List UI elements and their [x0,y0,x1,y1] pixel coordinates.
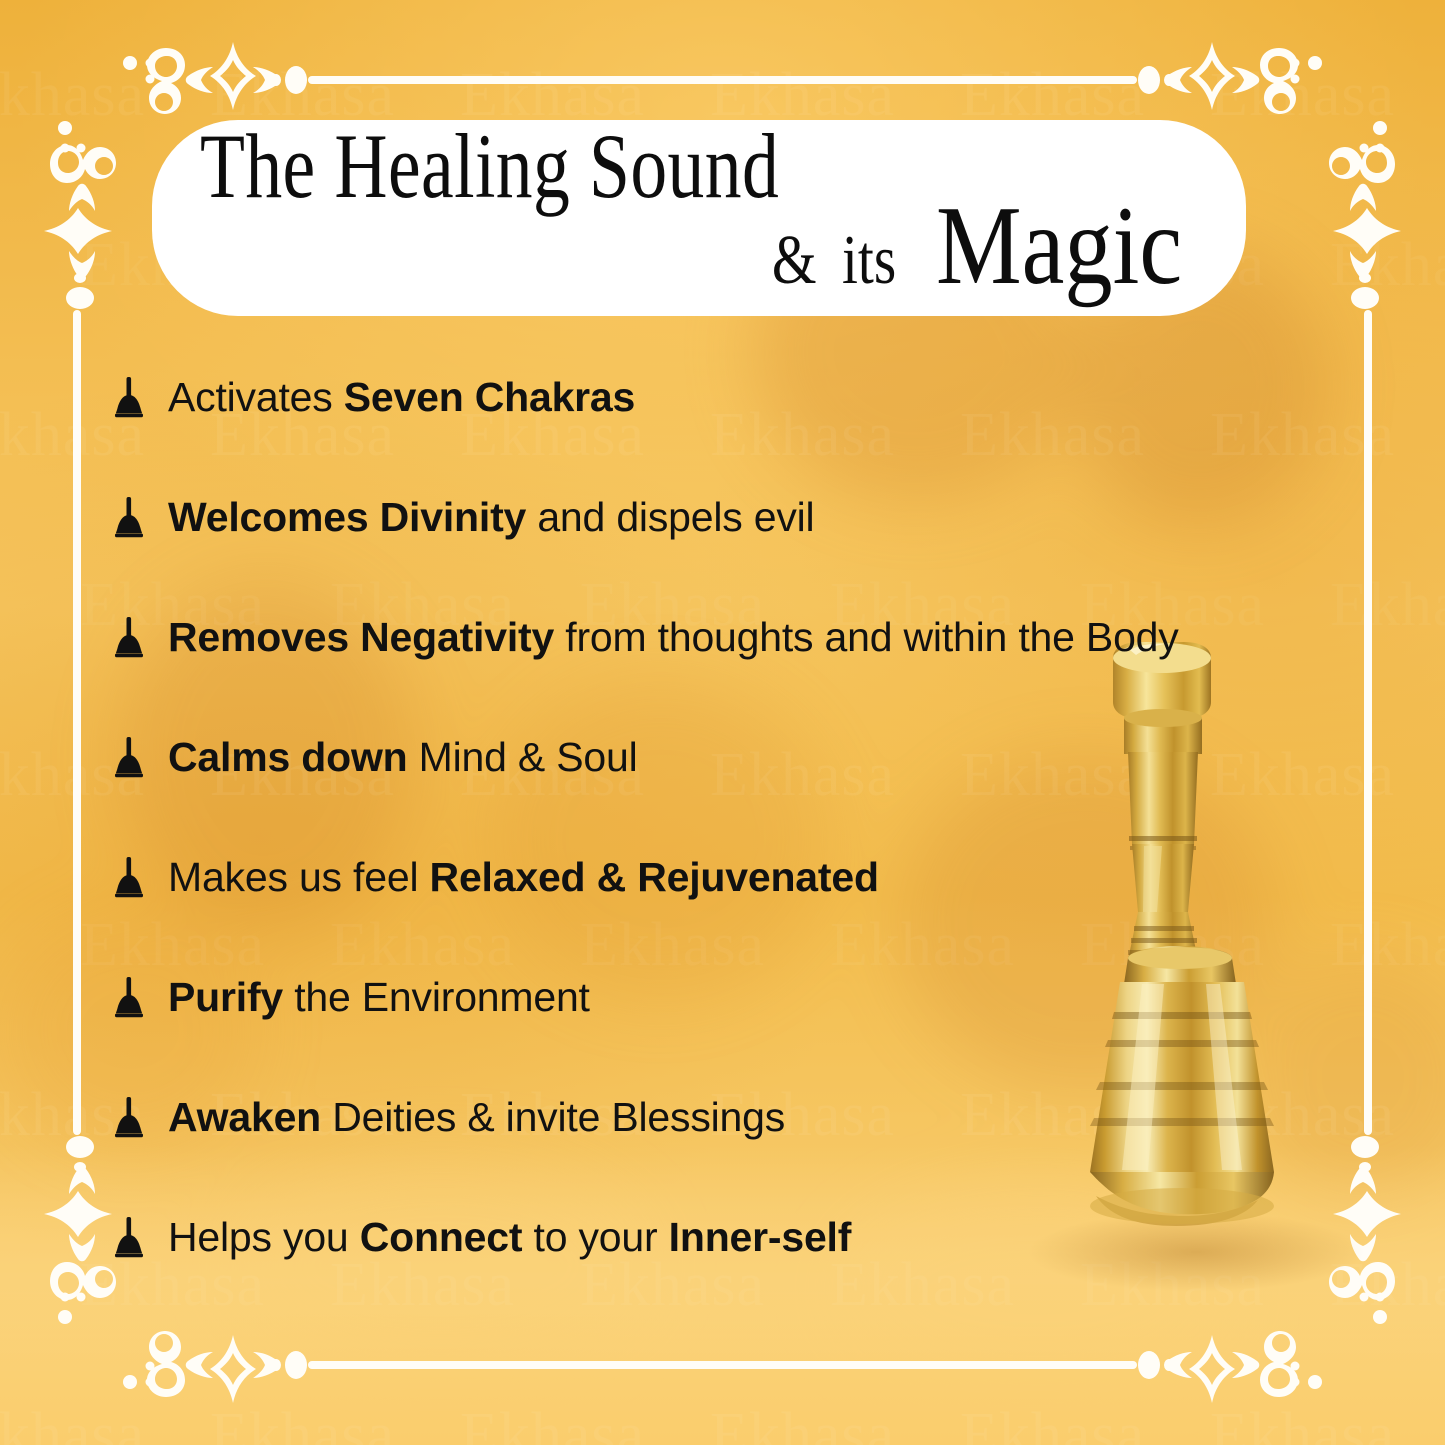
benefit-text: Removes Negativity from thoughts and wit… [168,615,1179,661]
bell-icon [112,1216,146,1260]
benefit-text: Purify the Environment [168,975,590,1021]
benefit-text: Activates Seven Chakras [168,375,635,421]
poster-canvas: EkhasaEkhasaEkhasaEkhasaEkhasaEkhasaEkha… [0,0,1445,1445]
benefit-text: Welcomes Divinity and dispels evil [168,495,814,541]
benefit-row: Awaken Deities & invite Blessings [112,1058,1342,1178]
bell-icon [112,496,146,540]
bell-icon [112,616,146,660]
title-magic: Magic [936,196,1182,297]
page-title-line-2: & its Magic [767,196,1202,301]
benefit-text: Makes us feel Relaxed & Rejuvenated [168,855,879,901]
title-ampersand: & [772,221,817,301]
title-card: The Healing Sound & its Magic [152,120,1246,316]
benefit-row: Activates Seven Chakras [112,338,1342,458]
bell-icon [112,736,146,780]
benefit-row: Welcomes Divinity and dispels evil [112,458,1342,578]
title-its: its [842,221,896,301]
bell-icon [112,856,146,900]
benefit-row: Helps you Connect to your Inner-self [112,1178,1342,1298]
page-title-line-1: The Healing Sound [200,118,779,215]
benefit-row: Makes us feel Relaxed & Rejuvenated [112,818,1342,938]
bell-icon [112,1096,146,1140]
bell-icon [112,376,146,420]
benefit-row: Calms down Mind & Soul [112,698,1342,818]
benefit-row: Purify the Environment [112,938,1342,1058]
benefit-text: Helps you Connect to your Inner-self [168,1215,851,1261]
benefits-list: Activates Seven ChakrasWelcomes Divinity… [112,338,1342,1298]
benefit-text: Calms down Mind & Soul [168,735,638,781]
benefit-text: Awaken Deities & invite Blessings [168,1095,785,1141]
bell-icon [112,976,146,1020]
benefit-row: Removes Negativity from thoughts and wit… [112,578,1342,698]
